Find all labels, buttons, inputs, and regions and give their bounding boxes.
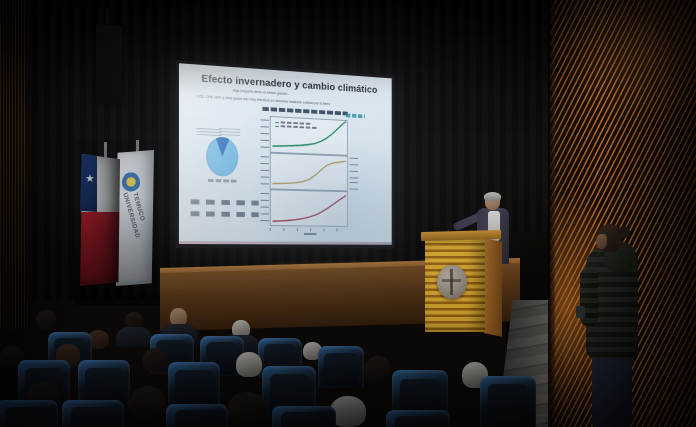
university-logo-icon bbox=[122, 172, 140, 194]
curve-ch4 bbox=[270, 153, 348, 192]
y-axis-right-lower bbox=[349, 182, 358, 195]
seat-cushion bbox=[281, 412, 327, 427]
audience-head bbox=[143, 348, 168, 372]
seat-cushion bbox=[324, 353, 357, 387]
emblem-horizontal-mark bbox=[442, 279, 461, 282]
audience-head bbox=[236, 352, 262, 377]
audience-head bbox=[365, 356, 391, 382]
formula-row-1 bbox=[191, 199, 259, 205]
ceiling-speaker bbox=[96, 24, 122, 104]
pie-caption bbox=[208, 179, 236, 183]
y-axis-ch4 bbox=[261, 156, 269, 185]
standing-attendee-hair-bun bbox=[618, 226, 630, 238]
phone-icon bbox=[576, 306, 585, 318]
pie-slices bbox=[206, 136, 238, 177]
seat bbox=[0, 400, 58, 427]
x-axis-label bbox=[304, 233, 316, 236]
seat bbox=[480, 376, 536, 427]
seat bbox=[386, 410, 450, 427]
seat-cushion bbox=[5, 407, 50, 427]
seat-cushion bbox=[395, 416, 441, 427]
flag-group: UNIVERSIDAD TEMUCO ★ bbox=[74, 140, 170, 305]
university-emblem-icon bbox=[437, 265, 467, 299]
standing-attendee bbox=[578, 220, 654, 427]
chart-title-text bbox=[262, 107, 347, 116]
seat-cushion bbox=[175, 410, 220, 427]
y-axis-right-upper bbox=[349, 158, 358, 181]
audience-head bbox=[228, 392, 266, 427]
right-wall-edge bbox=[548, 0, 555, 427]
pie-label-left bbox=[196, 128, 221, 136]
flag-chile-shading bbox=[80, 154, 120, 286]
presentation-slide: Efecto invernadero y cambio climático Al… bbox=[179, 63, 392, 245]
standing-attendee-legs bbox=[592, 356, 632, 427]
greenhouse-gas-chart bbox=[257, 111, 362, 234]
presenter-hair bbox=[484, 192, 501, 201]
x-axis-year-ticks bbox=[270, 228, 348, 232]
audience-seating bbox=[0, 300, 556, 427]
projection-screen: Efecto invernadero y cambio climático Al… bbox=[176, 60, 394, 248]
auditorium-scene: Efecto invernadero y cambio climático Al… bbox=[0, 0, 696, 427]
pie-label-right bbox=[219, 127, 240, 136]
atmosphere-pie-chart bbox=[195, 126, 250, 189]
seat bbox=[272, 406, 336, 427]
screen-surface: Efecto invernadero y cambio climático Al… bbox=[179, 63, 392, 245]
seat bbox=[166, 404, 228, 427]
seat-cushion bbox=[71, 407, 116, 427]
formula-row-2 bbox=[191, 211, 259, 217]
curve-co2 bbox=[270, 116, 348, 156]
seat bbox=[318, 346, 364, 388]
standing-attendee-face bbox=[596, 234, 607, 249]
gas-formula-block bbox=[191, 199, 259, 226]
audience-shoulders bbox=[116, 327, 152, 347]
curve-n2o bbox=[270, 189, 348, 227]
seat bbox=[62, 400, 124, 427]
y-axis-co2 bbox=[261, 119, 269, 148]
y-axis-n2o bbox=[261, 193, 269, 222]
chart-annotation-412ppm bbox=[346, 114, 365, 118]
seat-cushion bbox=[488, 384, 528, 426]
audience-head bbox=[36, 310, 56, 330]
emblem-vertical-mark bbox=[450, 269, 453, 295]
audience-head bbox=[130, 386, 166, 420]
screen-bottom-edge bbox=[179, 241, 392, 245]
